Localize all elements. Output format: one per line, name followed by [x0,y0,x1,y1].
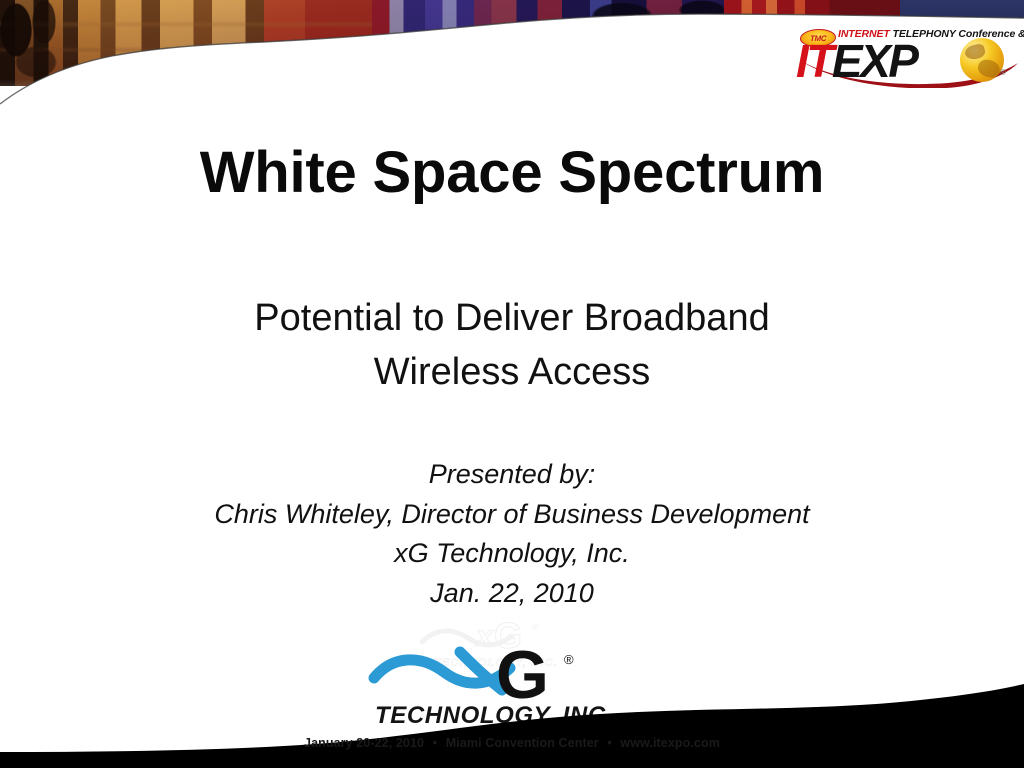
footer-separator-2: • [602,736,616,750]
footer-separator-1: • [428,736,442,750]
svg-text:®: ® [532,622,539,632]
footer-black-bar [0,752,1024,768]
slide-title: White Space Spectrum [0,142,1024,205]
presentation-date: Jan. 22, 2010 [0,574,1024,614]
itexpo-logo: TMC INTERNET TELEPHONY Conference & Expo… [792,16,1020,88]
itexpo-wordmark-it: IT [796,35,832,87]
itexpo-registered-mark: ® [1000,68,1006,77]
presenter-name-title: Chris Whiteley, Director of Business Dev… [0,495,1024,535]
itexpo-wordmark: ITEXP [796,38,916,84]
footer-date: January 20-22, 2010 [304,736,424,750]
presenter-block: Presented by: Chris Whiteley, Director o… [0,455,1024,614]
globe-icon [960,38,1004,82]
footer-website: www.itexpo.com [620,736,720,750]
presenter-company: xG Technology, Inc. [0,534,1024,574]
footer-venue: Miami Convention Center [446,736,599,750]
slide-subtitle-line-2: Wireless Access [0,346,1024,400]
svg-text:®: ® [564,652,574,667]
itexpo-wordmark-exp: EXP [832,35,917,87]
slide-subtitle-line-1: Potential to Deliver Broadband [0,292,1024,346]
presentation-slide: TMC INTERNET TELEPHONY Conference & Expo… [0,0,1024,768]
presenter-label: Presented by: [0,455,1024,495]
footer-info: January 20-22, 2010 • Miami Convention C… [0,736,1024,750]
slide-subtitle: Potential to Deliver Broadband Wireless … [0,292,1024,400]
